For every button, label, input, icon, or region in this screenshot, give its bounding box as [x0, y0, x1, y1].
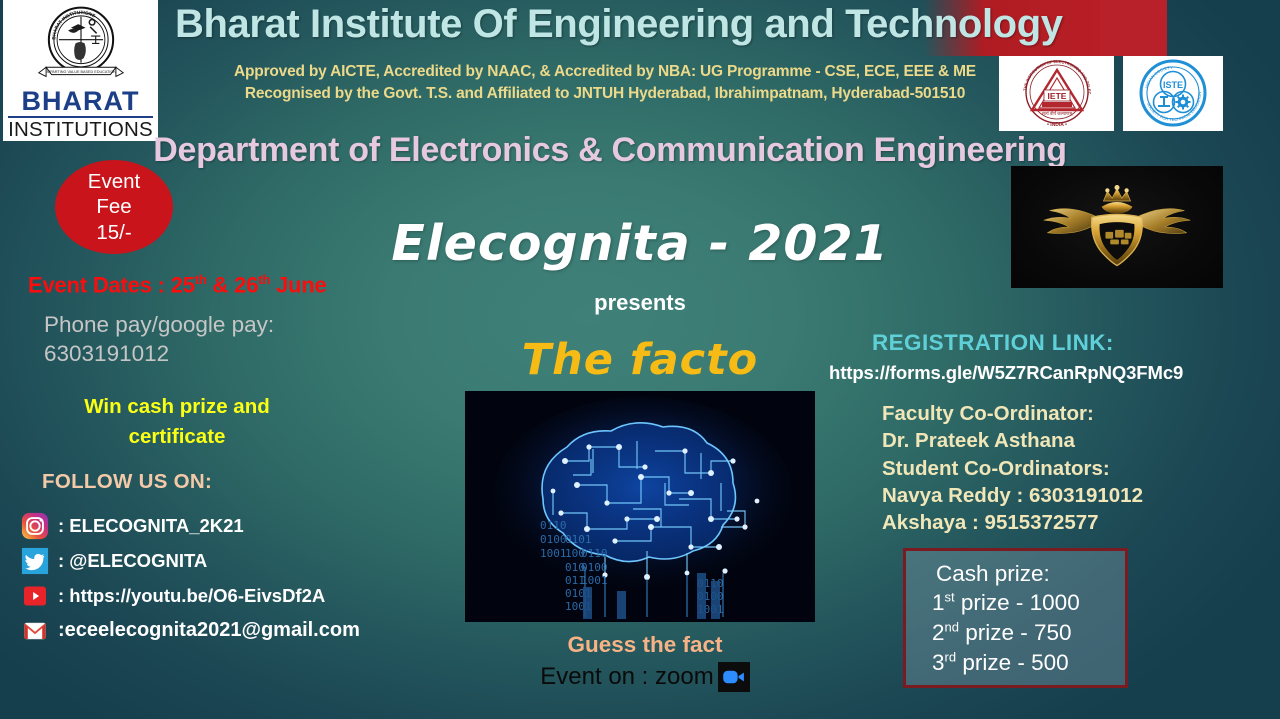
circuit-brain-image: 011001001001 0101100010 01101011001 0110… [465, 391, 815, 622]
instagram-handle: : ELECOGNITA_2K21 [58, 515, 244, 537]
faculty-coordinator-label: Faculty Co-Ordinator: [882, 400, 1280, 427]
svg-text:0101: 0101 [565, 533, 592, 546]
event-platform-label: Event on : zoom [540, 663, 713, 691]
iste-logo-icon: ISTE INDIAN SOCIETY SOCIETY FOR T [1125, 58, 1221, 130]
cash-prize-title: Cash prize: [936, 559, 1080, 589]
svg-text:IETE: IETE [1047, 91, 1066, 101]
win-line-2: certificate [42, 422, 312, 452]
fee-line-2: Fee [96, 195, 131, 218]
student-coordinator-1: Navya Reddy : 6303191012 [882, 482, 1280, 509]
prize-text-1: prize - 1000 [955, 590, 1080, 615]
registration-link-url[interactable]: https://forms.gle/W5Z7RCanRpNQ3FMc9 [829, 362, 1183, 384]
event-dates-mid: & 26 [207, 272, 259, 297]
accreditation-text: Approved by AICTE, Accredited by NAAC, &… [190, 61, 1020, 106]
email-address: :eceelecognita2021@gmail.com [58, 619, 360, 642]
cash-prize-box: Cash prize: 1st prize - 1000 2nd prize -… [903, 548, 1128, 688]
prize-row-2: 2nd prize - 750 [932, 618, 1080, 648]
institute-title: Bharat Institute Of Engineering and Tech… [175, 2, 1135, 47]
event-name: Elecognita - 2021 [330, 215, 950, 272]
iste-logo: ISTE INDIAN SOCIETY SOCIETY FOR T [1123, 56, 1223, 131]
svg-text:ISTE: ISTE [1163, 80, 1183, 90]
iete-logo-icon: IETE सत्यं वीर्यं कल्याणम् THE INSTITUTI… [1002, 58, 1112, 130]
social-item-youtube[interactable]: : https://youtu.be/O6-EivsDf2A [20, 578, 450, 613]
event-dates: Event Dates : 25th & 26th June [28, 272, 327, 298]
registration-link-label: REGISTRATION LINK: [872, 330, 1114, 356]
event-poster: BHARAT INSTITUTIONS IMPARTING VALUE BASE… [0, 0, 1280, 719]
accreditation-logos: IETE सत्यं वीर्यं कल्याणम् THE INSTITUTI… [999, 56, 1223, 131]
prize-rank-3: 3 [932, 650, 945, 675]
student-coordinators-label: Student Co-Ordinators: [882, 455, 1280, 482]
iete-logo: IETE सत्यं वीर्यं कल्याणम् THE INSTITUTI… [999, 56, 1114, 131]
social-item-instagram[interactable]: : ELECOGNITA_2K21 [20, 508, 450, 543]
event-platform: Event on : zoom [430, 662, 860, 692]
instagram-icon [20, 511, 50, 541]
logo-name: BHARAT [22, 88, 140, 115]
svg-text:0100: 0100 [581, 561, 608, 574]
guess-the-fact-label: Guess the fact [430, 632, 860, 658]
prize-sup-1: st [945, 590, 955, 605]
svg-text:0110: 0110 [581, 547, 608, 560]
event-dates-sup-2: th [258, 272, 270, 287]
payment-label: Phone pay/google pay: [44, 311, 374, 340]
prize-sup-3: rd [945, 649, 957, 664]
fee-amount: 15/- [96, 221, 131, 244]
event-dates-prefix: Event Dates : 25 [28, 272, 195, 297]
prize-rank-1: 1 [932, 590, 945, 615]
zoom-video-icon [718, 662, 750, 692]
presents-label: presents [330, 290, 950, 316]
prize-text-3: prize - 500 [956, 650, 1069, 675]
prize-sup-2: nd [945, 620, 959, 635]
prize-row-3: 3rd prize - 500 [932, 648, 1080, 678]
fee-line-1: Event [88, 170, 140, 193]
win-prize-note: Win cash prize and certificate [42, 392, 312, 451]
svg-text:0100: 0100 [540, 533, 567, 546]
event-dates-sup-1: th [195, 272, 207, 287]
logo-subtitle: INSTITUTIONS [8, 116, 153, 141]
social-links-list: : ELECOGNITA_2K21 : @ELECOGNITA : https:… [20, 508, 450, 648]
event-fee-badge: Event Fee 15/- [55, 160, 173, 254]
student-coordinator-2: Akshaya : 9515372577 [882, 509, 1280, 536]
event-dates-suffix: June [270, 272, 326, 297]
follow-us-label: FOLLOW US ON: [42, 470, 212, 494]
gmail-icon [20, 616, 50, 646]
prize-rank-2: 2 [932, 620, 945, 645]
svg-text:1001: 1001 [540, 547, 567, 560]
golden-winged-crest-icon [1019, 174, 1215, 280]
svg-text:0110: 0110 [540, 519, 567, 532]
twitter-icon [20, 546, 50, 576]
faculty-coordinator-name: Dr. Prateek Asthana [882, 427, 1280, 454]
prize-row-1: 1st prize - 1000 [932, 588, 1080, 618]
institution-seal-icon: BHARAT INSTITUTIONS IMPARTING VALUE BASE… [29, 3, 133, 87]
bharat-institutions-logo: BHARAT INSTITUTIONS IMPARTING VALUE BASE… [3, 0, 158, 141]
social-item-email[interactable]: :eceelecognita2021@gmail.com [20, 613, 450, 648]
svg-text:IMPARTING VALUE BASED EDUCATIO: IMPARTING VALUE BASED EDUCATION [45, 70, 115, 74]
youtube-icon [20, 581, 50, 611]
win-line-1: Win cash prize and [42, 392, 312, 422]
payment-number: 6303191012 [44, 340, 374, 369]
svg-text:• INDIA •: • INDIA • [1047, 122, 1067, 128]
circuit-brain-icon: 011001001001 0101100010 01101011001 0110… [465, 391, 815, 622]
accreditation-line-2: Recognised by the Govt. T.S. and Affilia… [190, 83, 1020, 105]
winged-crest-emblem [1011, 166, 1223, 288]
social-item-twitter[interactable]: : @ELECOGNITA [20, 543, 450, 578]
department-title: Department of Electronics & Communicatio… [150, 131, 1070, 169]
prize-text-2: prize - 750 [959, 620, 1072, 645]
svg-text:1001: 1001 [581, 574, 608, 587]
payment-info: Phone pay/google pay: 6303191012 [44, 311, 374, 369]
twitter-handle: : @ELECOGNITA [58, 550, 207, 572]
accreditation-line-1: Approved by AICTE, Accredited by NAAC, &… [190, 61, 1020, 83]
coordinators-block: Faculty Co-Ordinator: Dr. Prateek Asthan… [882, 400, 1280, 536]
youtube-link: : https://youtu.be/O6-EivsDf2A [58, 585, 325, 607]
